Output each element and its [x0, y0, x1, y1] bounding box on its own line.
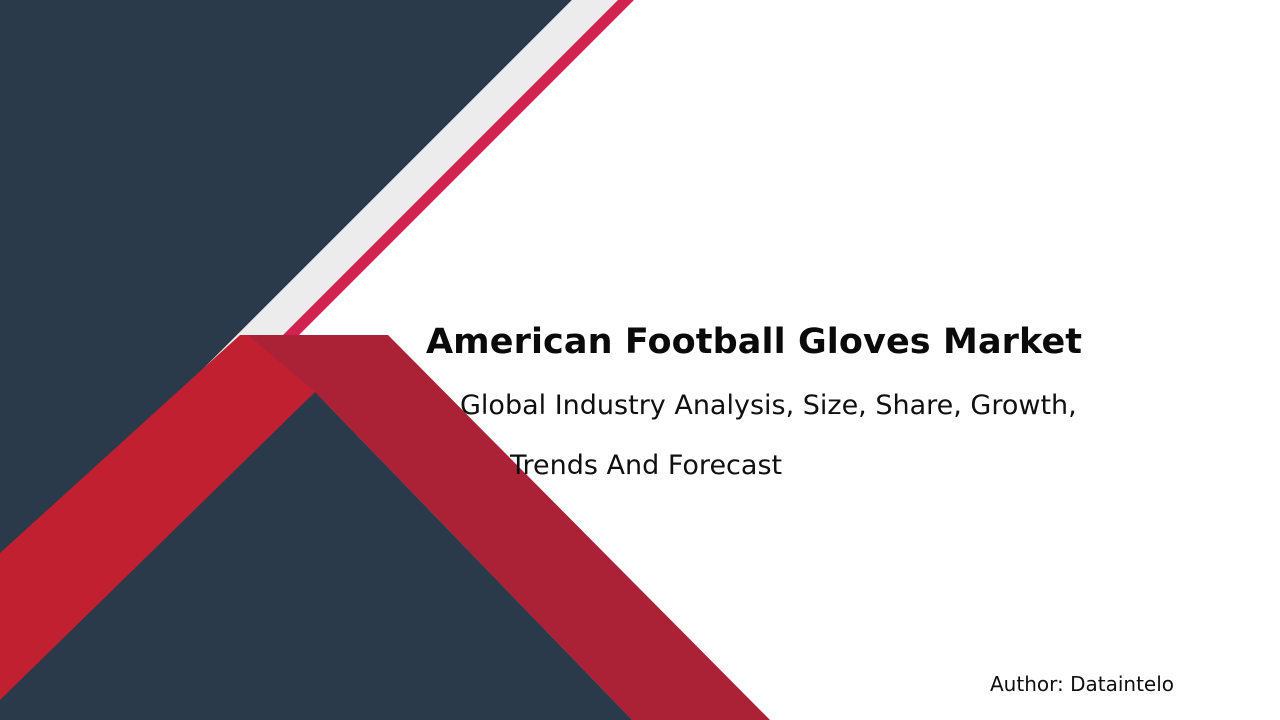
cover-slide: American Football Gloves Market Global I…: [0, 0, 1280, 720]
slide-text-layer: American Football Gloves Market Global I…: [0, 0, 1280, 720]
page-subtitle: Global Industry Analysis, Size, Share, G…: [460, 376, 1160, 496]
page-title: American Football Gloves Market: [426, 320, 1246, 364]
subtitle-line-2: Trends And Forecast: [510, 436, 1160, 496]
subtitle-line-1: Global Industry Analysis, Size, Share, G…: [460, 390, 1077, 421]
author-credit: Author: Dataintelo: [990, 672, 1174, 696]
